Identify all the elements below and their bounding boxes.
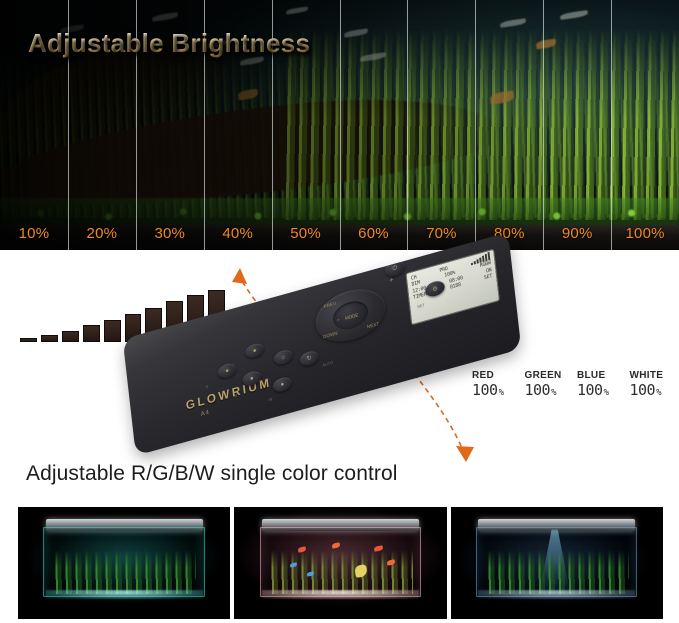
power-button[interactable]: ⏻ (385, 259, 406, 278)
power-icon: ⏻ (392, 265, 397, 273)
white-button-label: W (268, 396, 272, 402)
channel-value: 100 % (630, 381, 673, 399)
brightness-bar (83, 325, 100, 342)
tank-plants (268, 550, 412, 595)
plus-icon[interactable]: + (389, 277, 394, 285)
channel-number: 100 (472, 381, 498, 399)
aquarium-pink (234, 507, 446, 619)
channel-number: 100 (630, 381, 656, 399)
channel-value: 100 % (577, 381, 620, 399)
channel-number: 100 (577, 381, 603, 399)
channel-unit: % (499, 388, 504, 398)
nav-center-button[interactable]: MODE (336, 305, 367, 327)
aquarium-photo-row (18, 507, 663, 619)
remote-body[interactable]: GLOWRIUM A4 CH PRO DIM 100% RGBW (123, 232, 522, 456)
channel-value: 100 % (472, 381, 515, 399)
channel-number: 100 (525, 381, 551, 399)
color-control-section: Adjustable R/G/B/W single color control (0, 482, 679, 623)
rgbw-channel-white: WHITE 100 % (630, 370, 673, 399)
brightness-banner: Adjustable Brightness 10% 20% 30% 40% 50… (0, 0, 679, 250)
remote-control[interactable]: GLOWRIUM A4 CH PRO DIM 100% RGBW (112, 268, 542, 468)
channel-label: BLUE (577, 370, 620, 381)
brightness-bar (62, 331, 79, 342)
gear-icon: ⚙ (432, 285, 438, 293)
channel-unit: % (656, 388, 661, 398)
red-button-label: R (205, 384, 208, 390)
percent-label: 100% (611, 218, 679, 248)
percent-label: 40% (204, 218, 272, 248)
refresh-icon: ↻ (306, 354, 312, 362)
percent-label: 20% (68, 218, 136, 248)
lcd-screen: CH PRO DIM 100% RGBW 12:00 0 (405, 249, 500, 326)
percent-labels-row: 10% 20% 30% 40% 50% 60% 70% 80% 90% 100% (0, 218, 679, 248)
brightness-bar (20, 338, 37, 342)
circle-icon: ● (250, 375, 254, 382)
circle-icon: ● (225, 367, 229, 374)
nav-right-label: NEXT (367, 321, 380, 329)
green-channel-button[interactable]: ● (245, 342, 265, 360)
lcd-cell: SET (484, 273, 493, 282)
remote-face: GLOWRIUM A4 CH PRO DIM 100% RGBW (123, 232, 522, 456)
sun-icon: ☼ (280, 354, 286, 362)
rgbw-channel-green: GREEN 100 % (525, 370, 568, 399)
nav-ring[interactable]: MODE PREV NEXT DOWN (313, 282, 388, 350)
tank-gravel (46, 590, 203, 599)
page-title: Adjustable Brightness (28, 28, 310, 59)
aquarium-cyan (18, 507, 230, 619)
tank-plants (52, 550, 196, 595)
channel-unit: % (551, 388, 556, 398)
aquarium-blue (451, 507, 663, 619)
light-button[interactable]: ☼ (273, 348, 293, 366)
percent-label: 50% (272, 218, 340, 248)
section-title: Adjustable R/G/B/W single color control (26, 462, 398, 486)
rgbw-channel-red: RED 100 % (472, 370, 515, 399)
nav-down-label: DOWN (323, 330, 338, 339)
nav-left-label: PREV (323, 301, 336, 310)
blue-button-label: B (234, 393, 237, 399)
channel-value: 100 % (525, 381, 568, 399)
percent-label: 10% (0, 218, 68, 248)
lcd-cell: 0188 (450, 281, 462, 290)
channel-label: WHITE (630, 370, 673, 381)
circle-icon: ● (280, 381, 284, 388)
percent-label: 30% (136, 218, 204, 248)
rgbw-channel-blue: BLUE 100 % (577, 370, 620, 399)
tank-gravel (262, 590, 419, 599)
remote-section: GLOWRIUM A4 CH PRO DIM 100% RGBW (0, 250, 679, 482)
tank-gravel (478, 590, 635, 599)
circle-icon: ● (253, 347, 257, 354)
auto-button-label: AUTO (322, 360, 333, 368)
rgbw-readout: RED 100 % GREEN 100 % BLUE 100 % WHITE 1… (472, 370, 672, 399)
tank-plants (485, 550, 629, 595)
white-channel-button[interactable]: ● (272, 375, 292, 393)
channel-label: RED (472, 370, 515, 381)
channel-label: GREEN (525, 370, 568, 381)
percent-label: 90% (543, 218, 611, 248)
brightness-bar (41, 335, 58, 342)
auto-button[interactable]: ↻ (299, 349, 319, 367)
model-label: A4 (201, 409, 211, 418)
red-channel-button[interactable]: ● (217, 362, 237, 380)
percent-label: 60% (340, 218, 408, 248)
channel-unit: % (604, 388, 609, 398)
